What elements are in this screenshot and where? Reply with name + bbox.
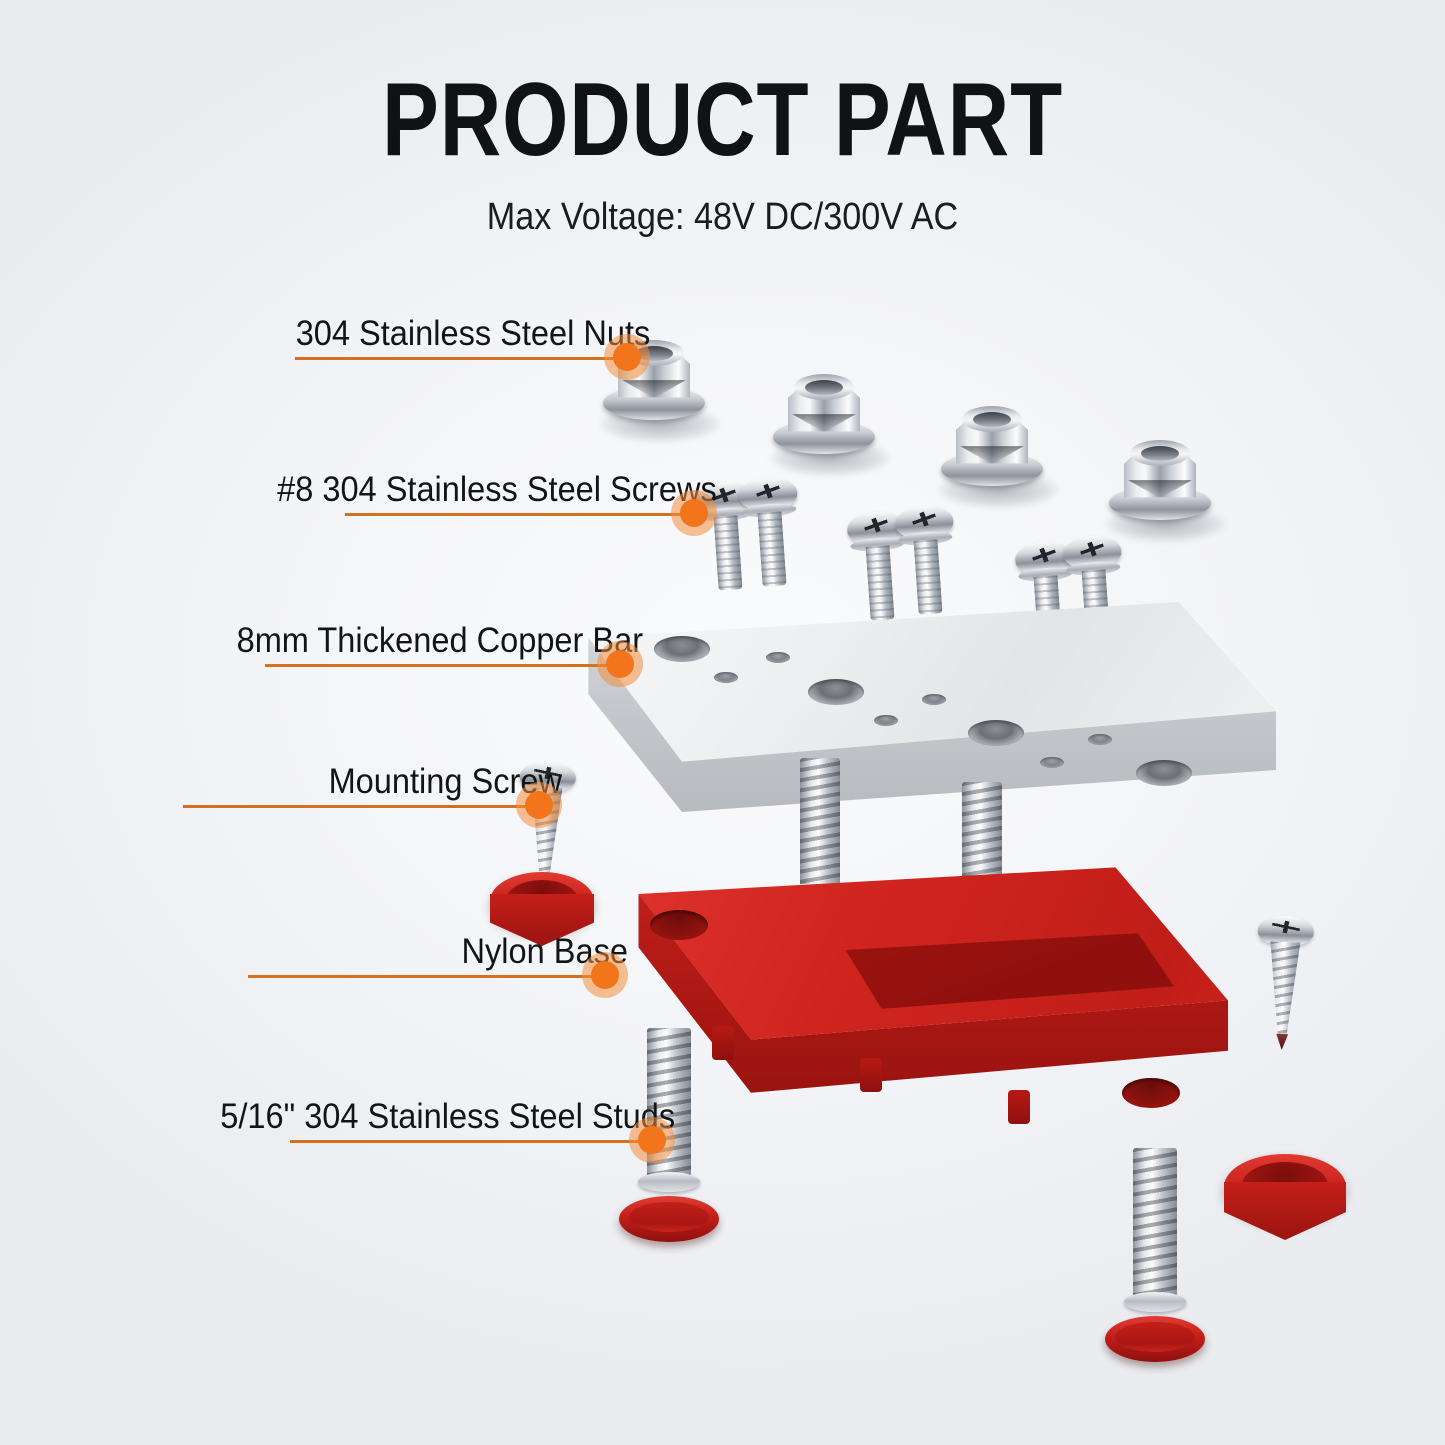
callout-nylon-base-leader-line	[248, 975, 602, 978]
flange-nut-2	[772, 370, 876, 474]
page-title: PRODUCT PART	[130, 68, 1315, 172]
nylon-base-foot	[712, 1026, 734, 1060]
callout-nylon-base-marker	[591, 961, 619, 989]
stud-washer	[1124, 1292, 1186, 1312]
copper-bar-small-hole	[922, 694, 946, 705]
callout-mounting-screw-leader-line	[183, 805, 536, 808]
copper-bar-small-hole	[1088, 734, 1112, 745]
copper-bar	[556, 602, 1276, 812]
page-subtitle: Max Voltage: 48V DC/300V AC	[72, 196, 1373, 239]
nut-bore	[973, 412, 1011, 427]
copper-bar-small-hole	[766, 652, 790, 663]
stud-red-cap-inner	[1115, 1322, 1195, 1352]
copper-bar-small-hole	[874, 715, 898, 726]
callout-screws-marker	[680, 499, 708, 527]
stud-red-cap-inner	[629, 1202, 709, 1232]
nylon-base-hole-1	[650, 910, 708, 940]
screw-shank	[713, 515, 742, 590]
nylon-base-foot	[1008, 1090, 1030, 1124]
callout-screws-leader-line	[345, 513, 691, 516]
flange-nut-4	[1108, 436, 1212, 540]
callout-copper-bar-marker	[606, 650, 634, 678]
callout-nuts-leader-line	[295, 357, 624, 360]
copper-bar-small-hole	[1040, 757, 1064, 768]
stud-lower-2	[1124, 1148, 1186, 1378]
callout-copper-bar-label: 8mm Thickened Copper Bar	[237, 621, 643, 661]
copper-bar-large-hole	[808, 679, 864, 705]
stud-thread	[1133, 1148, 1177, 1298]
callout-studs-leader-line	[290, 1140, 649, 1143]
pan-screw-2	[738, 476, 804, 592]
callout-studs-marker	[638, 1126, 666, 1154]
callout-copper-bar-leader-line	[265, 664, 617, 667]
nylon-base-hole-2	[1122, 1078, 1180, 1108]
screw-shank	[757, 511, 786, 586]
callout-nuts-label: 304 Stainless Steel Nuts	[295, 314, 650, 354]
callout-screws-label: #8 304 Stainless Steel Screws	[277, 470, 717, 510]
copper-bar-large-hole	[968, 720, 1024, 746]
nylon-base-ear-right-body	[1224, 1182, 1346, 1240]
copper-bar-small-hole	[714, 672, 738, 683]
nylon-base-foot	[860, 1058, 882, 1092]
flange-nut-3	[940, 402, 1044, 506]
copper-bar-large-hole	[1136, 760, 1192, 786]
callout-mounting-screw-marker	[525, 791, 553, 819]
stud-washer	[638, 1172, 700, 1192]
nut-bore	[805, 380, 843, 395]
product-exploded-diagram: PRODUCT PART Max Voltage: 48V DC/300V AC	[0, 0, 1445, 1445]
callout-nuts-marker	[613, 343, 641, 371]
nut-bore	[1141, 446, 1179, 461]
callout-studs-label: 5/16" 304 Stainless Steel Studs	[220, 1097, 675, 1137]
copper-bar-large-hole	[654, 636, 710, 662]
